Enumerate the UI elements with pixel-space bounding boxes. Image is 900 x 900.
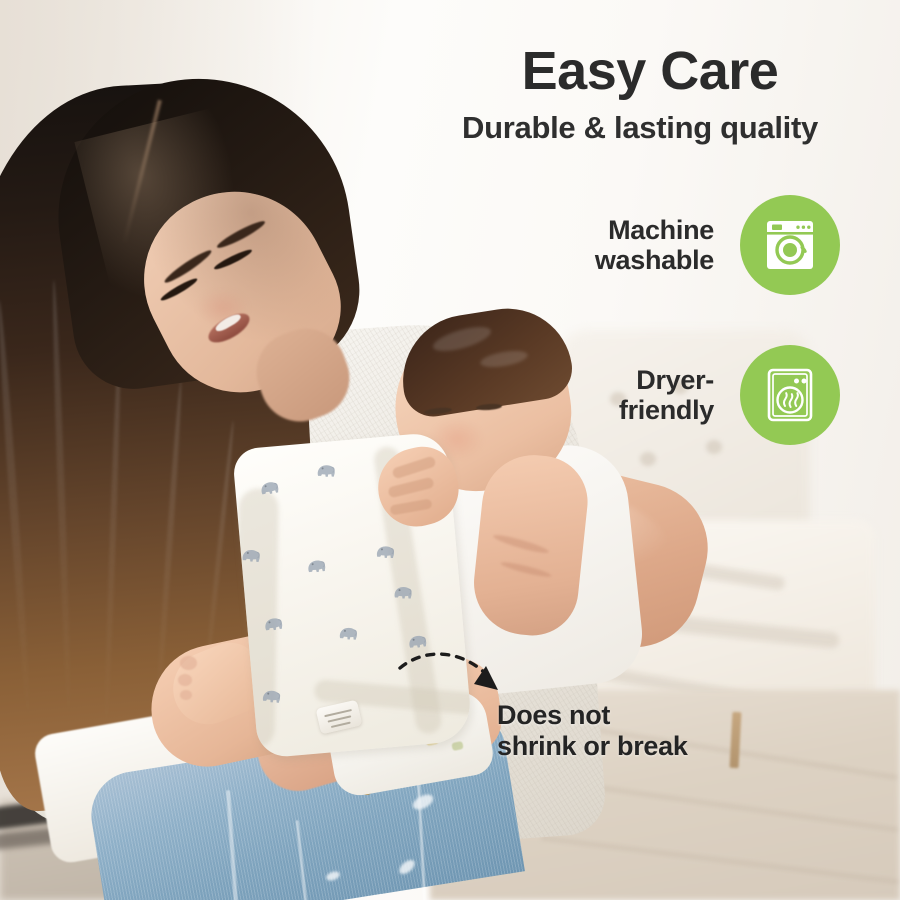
elephant-print — [303, 553, 332, 577]
product-feature-image: Easy Care Durable & lasting quality Mach… — [0, 0, 900, 900]
headboard-tuft — [640, 452, 656, 466]
elephant-print — [239, 544, 266, 566]
washing-machine-icon — [761, 216, 819, 274]
page-title: Easy Care — [430, 44, 870, 99]
badge-machine-washable — [740, 195, 840, 295]
elephant-print — [336, 622, 363, 644]
page-subtitle: Durable & lasting quality — [410, 110, 870, 146]
feature-label: Dryer- friendly — [619, 365, 714, 426]
feature-dryer-friendly: Dryer- friendly — [560, 345, 840, 445]
elephant-print — [256, 474, 286, 500]
elephant-print — [391, 582, 417, 603]
elephant-print — [260, 611, 289, 636]
baby-toe — [180, 656, 197, 670]
tag-text-line — [331, 722, 351, 728]
badge-dryer-friendly — [740, 345, 840, 445]
callout-text: Does not shrink or break — [497, 700, 688, 762]
feature-machine-washable: Machine washable — [560, 195, 840, 295]
baby-toe — [180, 690, 192, 700]
baby-toe — [178, 674, 192, 686]
elephant-print — [314, 460, 340, 481]
elephant-print — [259, 684, 286, 707]
feature-label: Machine washable — [595, 215, 714, 276]
dryer-icon — [761, 366, 819, 424]
elephant-print — [373, 541, 399, 562]
